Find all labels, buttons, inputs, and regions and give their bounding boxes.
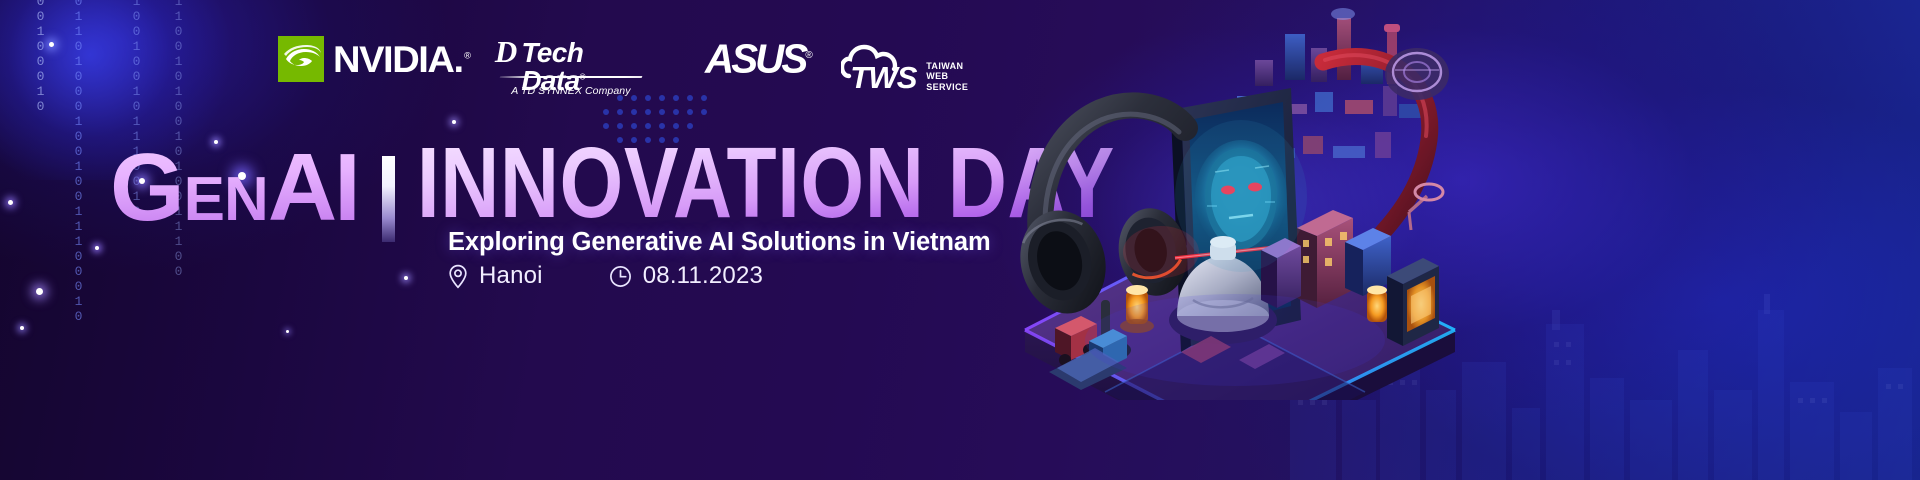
event-title: INNOVATION DAY [417,134,1115,234]
tws-tagline: TAIWANWEBSERVICE [926,61,968,95]
sparkle-particle [20,326,24,330]
tech-data-tagline: A TD SYNNEX Company [511,85,630,97]
location-label: Hanoi [479,262,543,290]
title-divider [382,156,395,242]
logo-asus[interactable]: ASUS® [705,36,801,82]
tech-data-wordmark: D Tech Data® [495,36,647,72]
event-banner: 00100010 0110100010010011100010 10010010… [0,0,1920,480]
binary-column: 00100010 [34,0,47,114]
logo-tws[interactable]: TWS TAIWANWEBSERVICE [841,36,968,94]
genai-brandmark: GENAI [110,140,358,248]
sparkle-particle [286,330,289,333]
logo-nvidia[interactable]: NVIDIA.® [278,36,467,82]
sparkle-particle [49,42,54,47]
asus-wordmark: ASUS® [705,39,813,79]
nvidia-wordmark: NVIDIA.® [333,41,471,78]
clock-icon [609,265,632,288]
sparkle-particle [8,200,13,205]
sparkle-particle [452,120,456,124]
date-label: 08.11.2023 [643,262,763,290]
event-location: Hanoi [448,262,543,290]
sponsor-logo-row: NVIDIA.® D Tech Data® A TD SYNNEX Compan… [278,36,968,100]
sparkle-particle [404,276,408,280]
event-date: 08.11.2023 [609,262,763,290]
event-subtitle: Exploring Generative AI Solutions in Vie… [448,228,991,257]
sparkle-particle [95,246,99,250]
tech-data-underline [500,76,643,78]
nvidia-eye-icon [278,36,324,82]
tws-mark: TWS [841,40,919,94]
binary-column: 0110100010010011100010 [72,0,85,194]
tech-data-monogram: D [495,36,516,67]
location-pin-icon [448,264,468,289]
event-meta-row: Hanoi 08.11.2023 [448,262,763,290]
tws-wordmark: TWS [850,62,916,93]
sparkle-particle [36,288,43,295]
skyline-decoration [1280,250,1920,480]
logo-tech-data[interactable]: D Tech Data® A TD SYNNEX Company [495,36,647,100]
